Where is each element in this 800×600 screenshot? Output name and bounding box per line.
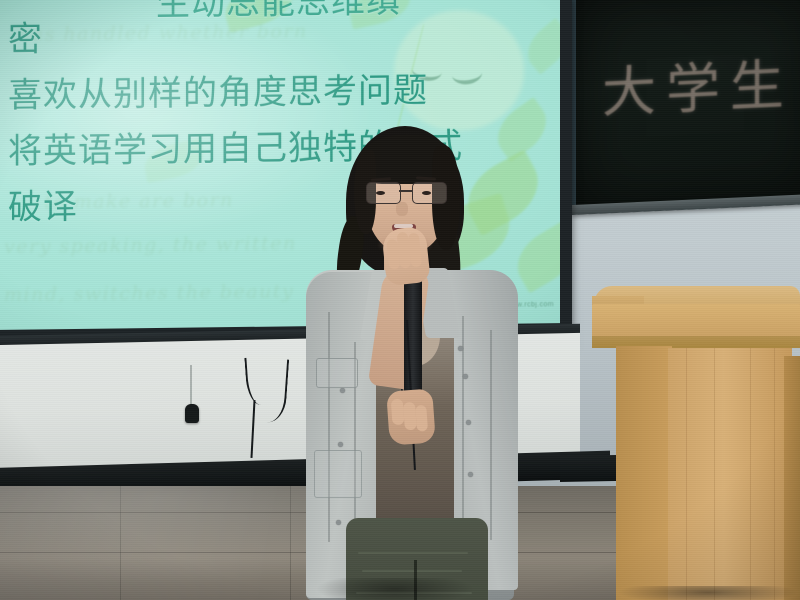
jacket-button bbox=[463, 374, 468, 379]
slide-line-2: 密 bbox=[8, 11, 43, 60]
speaker-person bbox=[280, 120, 530, 600]
jacket-pocket bbox=[314, 450, 362, 498]
glasses-bridge bbox=[399, 190, 412, 192]
podium-right-edge bbox=[784, 356, 800, 600]
hand-lower bbox=[386, 388, 436, 445]
slide-line-1: 生动思能思维缜 bbox=[156, 0, 401, 25]
slide-line-3: 喜欢从别样的角度思考问题 bbox=[8, 63, 428, 117]
jacket-button bbox=[340, 388, 345, 393]
hand-upper bbox=[381, 226, 431, 286]
jacket-button bbox=[336, 520, 341, 525]
eye-left bbox=[376, 191, 385, 195]
classroom-photo: 大学生 大学生 has handled whether born to make… bbox=[0, 0, 800, 600]
podium bbox=[592, 286, 800, 600]
slide-english-line: very speaking, the written bbox=[4, 232, 297, 258]
jacket-button bbox=[466, 420, 471, 425]
podium-front-panel bbox=[668, 348, 792, 600]
jacket-button bbox=[338, 442, 343, 447]
person-shadow bbox=[290, 578, 500, 600]
slide-line-5: 破译 bbox=[8, 179, 78, 229]
podium-side-panel bbox=[616, 346, 672, 600]
slide-english-line: mind, switches the beauty bbox=[4, 280, 294, 306]
podium-shadow bbox=[608, 586, 800, 600]
blackboard: 大学生 大学生 bbox=[572, 0, 800, 212]
chalk-text: 大学生 bbox=[602, 40, 794, 128]
podium-top bbox=[592, 304, 800, 340]
eye-right bbox=[422, 191, 431, 195]
jacket-pocket bbox=[316, 358, 358, 388]
jacket-button bbox=[458, 346, 463, 351]
wall-rail bbox=[190, 365, 192, 407]
wall-device-icon bbox=[185, 404, 199, 423]
nose bbox=[396, 202, 408, 216]
jacket-button bbox=[468, 472, 473, 477]
